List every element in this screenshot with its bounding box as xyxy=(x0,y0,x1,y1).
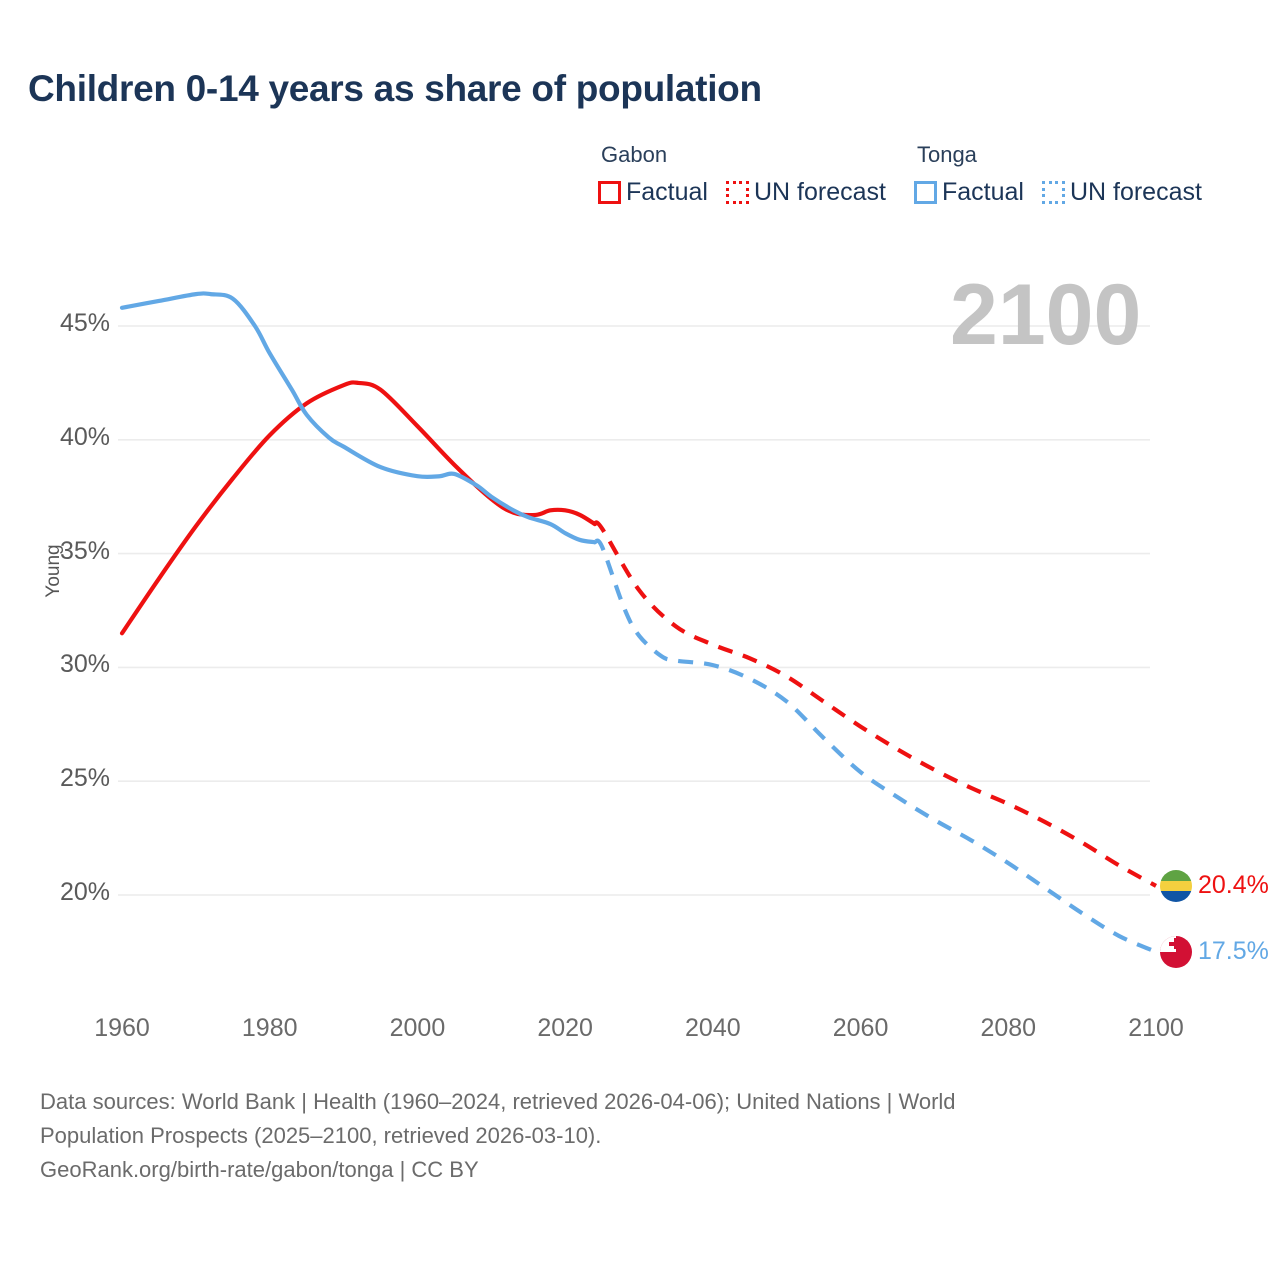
series-line-gabon-forecast xyxy=(595,522,1156,886)
x-tick-label-1980: 1980 xyxy=(210,1014,330,1043)
flag-stripe xyxy=(1160,881,1192,892)
footer-line-sources-2: Population Prospects (2025–2100, retriev… xyxy=(40,1119,1190,1153)
end-value-label-gabon: 20.4% xyxy=(1198,871,1269,900)
x-tick-label-2020: 2020 xyxy=(505,1014,625,1043)
footer-line-sources-1: Data sources: World Bank | Health (1960–… xyxy=(40,1089,956,1114)
series-line-gabon-factual xyxy=(122,382,595,633)
plot-svg xyxy=(0,0,1280,1060)
y-tick-label-35: 35% xyxy=(30,537,110,566)
x-tick-label-2000: 2000 xyxy=(357,1014,477,1043)
y-tick-label-20: 20% xyxy=(30,878,110,907)
series-line-tonga-forecast xyxy=(595,541,1156,952)
y-axis-title: Young xyxy=(43,511,65,631)
y-tick-label-45: 45% xyxy=(30,309,110,338)
gabon-flag-icon xyxy=(1160,870,1192,902)
flag-field xyxy=(1160,936,1192,968)
x-tick-label-2100: 2100 xyxy=(1096,1014,1216,1043)
watermark-year: 2100 xyxy=(950,272,1141,358)
x-tick-label-1960: 1960 xyxy=(62,1014,182,1043)
chart-root: Children 0-14 years as share of populati… xyxy=(0,0,1280,1280)
end-value-label-tonga: 17.5% xyxy=(1198,937,1269,966)
series-line-tonga-factual xyxy=(122,293,595,542)
plot-area: 2100 Young 20%25%30%35%40%45% 1960198020… xyxy=(0,0,1280,1060)
footer-line-credit: GeoRank.org/birth-rate/gabon/tonga | CC … xyxy=(40,1153,1190,1187)
y-tick-label-40: 40% xyxy=(30,423,110,452)
x-tick-label-2040: 2040 xyxy=(653,1014,773,1043)
flag-cross-horizontal xyxy=(1169,942,1183,946)
x-tick-label-2080: 2080 xyxy=(948,1014,1068,1043)
footer-attribution: Data sources: World Bank | Health (1960–… xyxy=(40,1085,1190,1187)
tonga-flag-icon xyxy=(1160,936,1192,968)
x-tick-label-2060: 2060 xyxy=(801,1014,921,1043)
y-tick-label-30: 30% xyxy=(30,650,110,679)
y-tick-label-25: 25% xyxy=(30,764,110,793)
